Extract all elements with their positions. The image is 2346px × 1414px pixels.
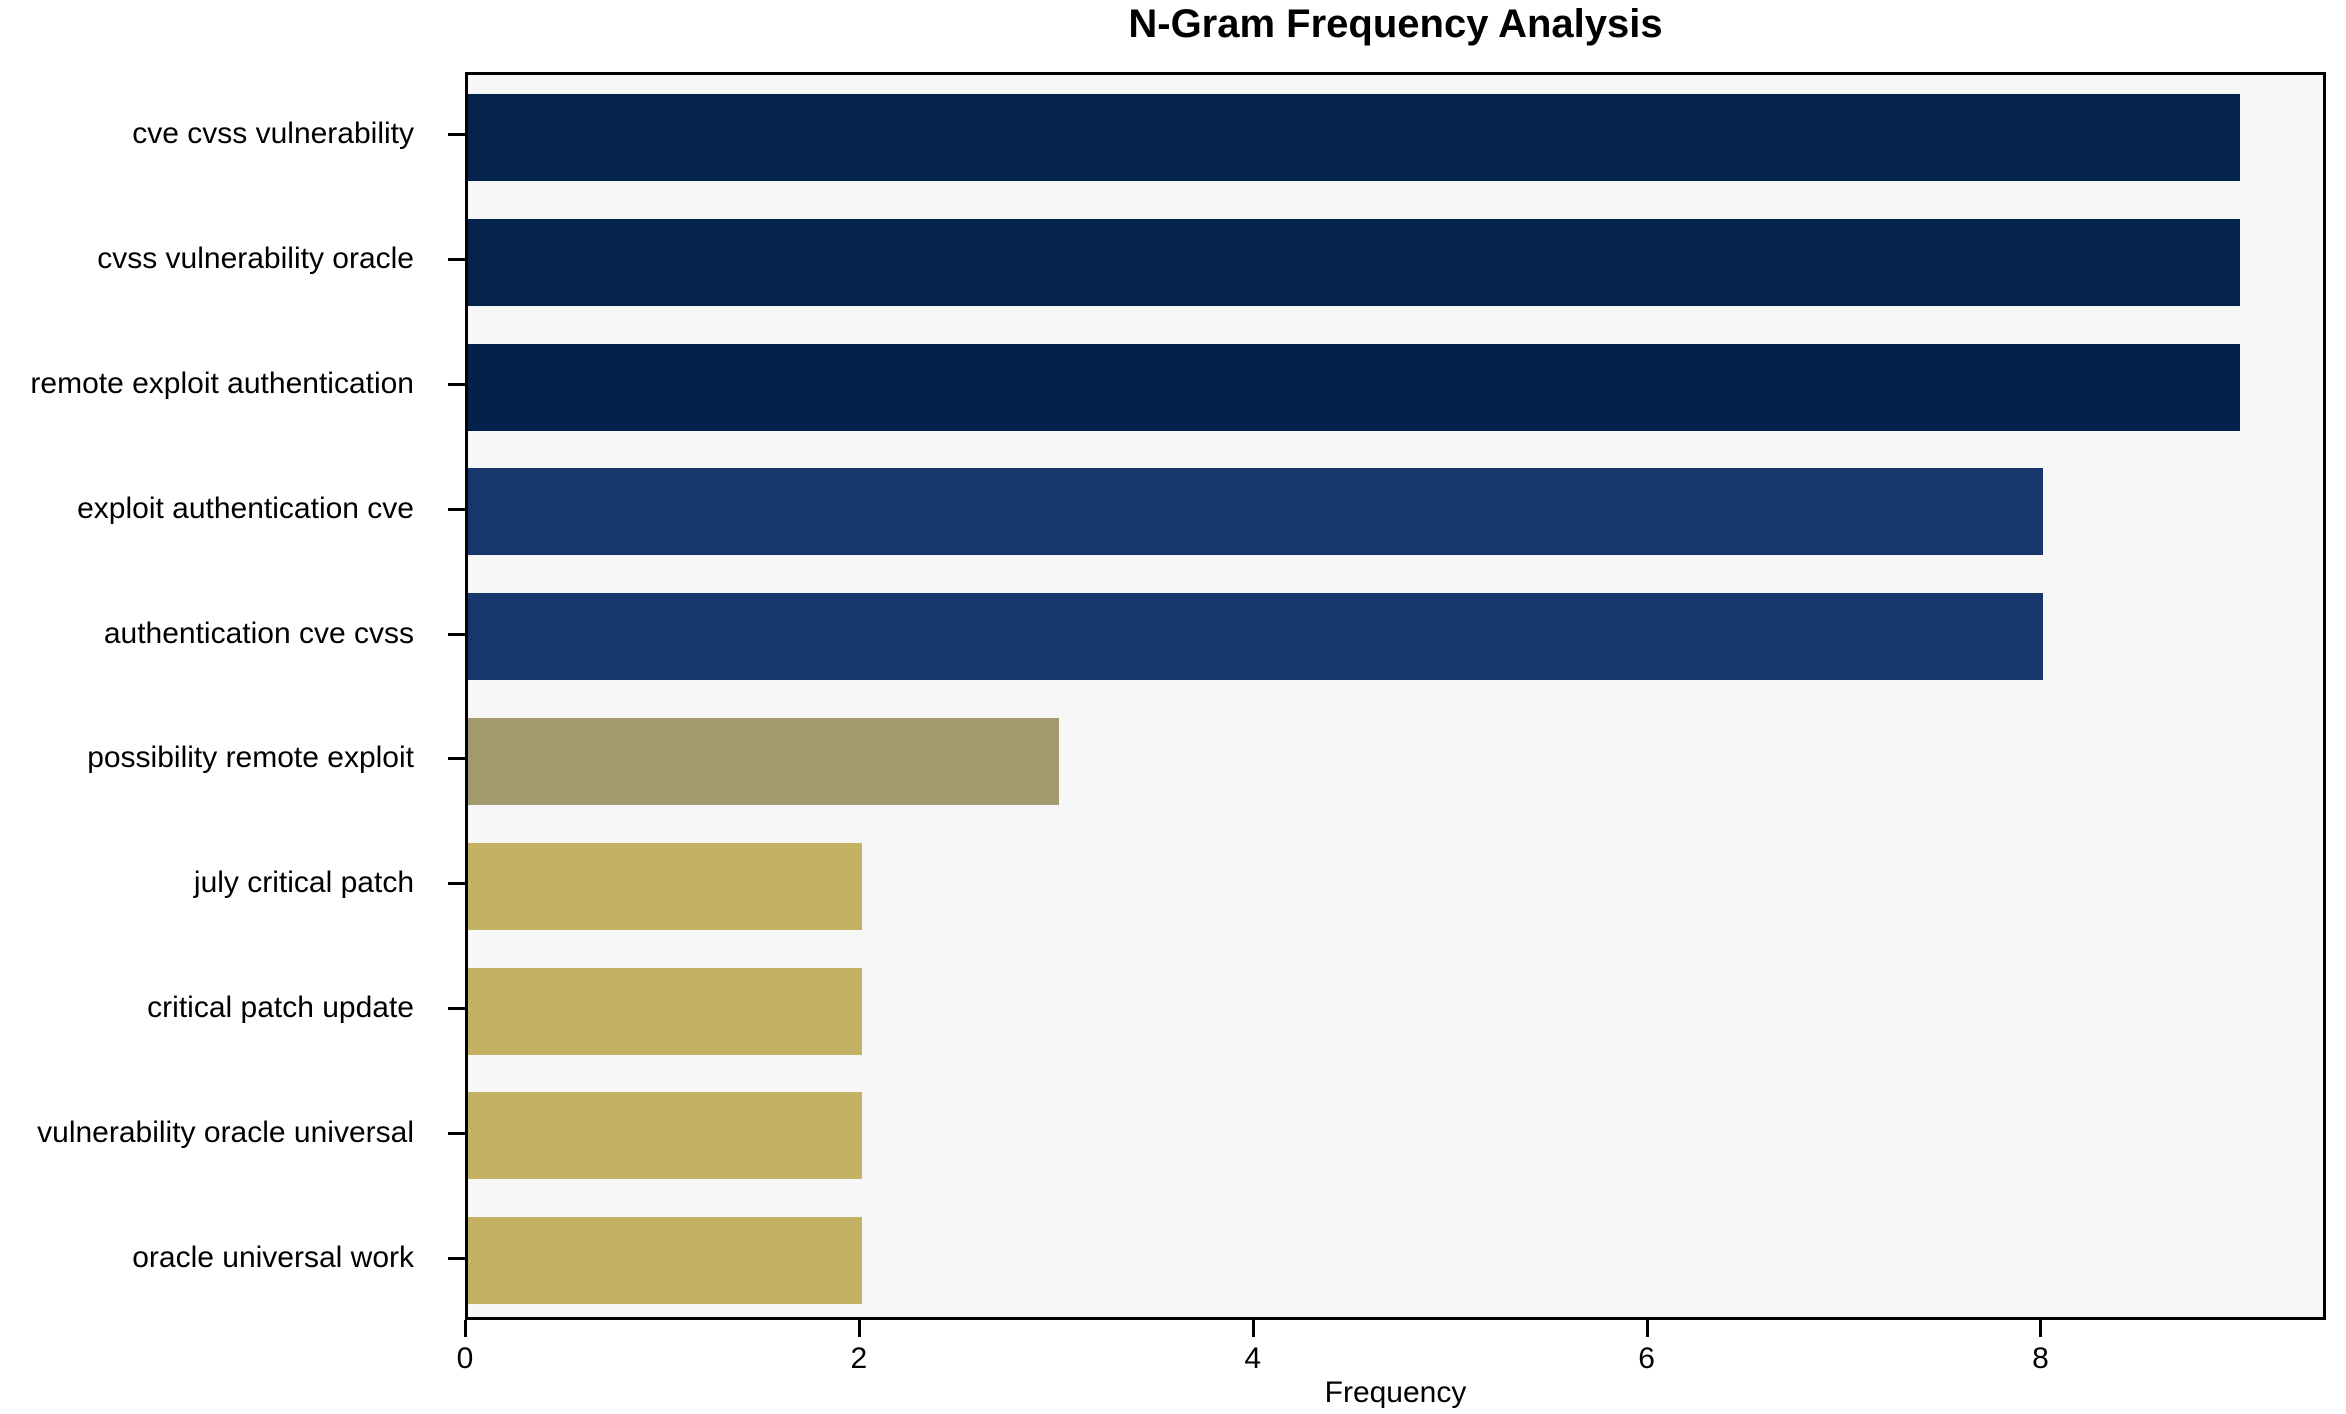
y-axis-labels: cve cvss vulnerabilitycvss vulnerability… (0, 72, 440, 1320)
x-tick-label: 6 (1638, 1342, 1655, 1376)
x-tick-label: 4 (1244, 1342, 1261, 1376)
x-tick-label: 0 (457, 1342, 474, 1376)
y-tick-label: july critical patch (194, 866, 414, 900)
y-tick-mark (448, 1132, 465, 1135)
y-tick-label: exploit authentication cve (77, 492, 414, 526)
y-tick-mark (448, 882, 465, 885)
y-tick-label: cve cvss vulnerability (132, 117, 414, 151)
bar (468, 593, 2043, 680)
y-tick-label: oracle universal work (132, 1241, 414, 1275)
bars-layer (468, 75, 2323, 1317)
y-tick-label: remote exploit authentication (30, 367, 414, 401)
y-tick-label: cvss vulnerability oracle (97, 242, 414, 276)
x-tick-mark (858, 1320, 861, 1337)
y-tick-label: authentication cve cvss (104, 617, 414, 651)
x-tick-mark (1252, 1320, 1255, 1337)
bar (468, 1217, 862, 1304)
bar (468, 219, 2240, 306)
bar (468, 843, 862, 930)
y-tick-label: critical patch update (147, 991, 414, 1025)
x-tick-mark (2039, 1320, 2042, 1337)
x-axis-title: Frequency (465, 1376, 2326, 1410)
y-tick-label: possibility remote exploit (87, 741, 414, 775)
y-tick-mark (448, 258, 465, 261)
plot-area (465, 72, 2326, 1320)
bar (468, 968, 862, 1055)
y-tick-mark (448, 133, 465, 136)
x-tick-label: 2 (851, 1342, 868, 1376)
y-tick-mark (448, 633, 465, 636)
x-tick-mark (464, 1320, 467, 1337)
y-tick-mark (448, 757, 465, 760)
chart-figure: N-Gram Frequency Analysis cve cvss vulne… (0, 0, 2346, 1414)
y-tick-mark (448, 1257, 465, 1260)
bar (468, 718, 1059, 805)
bar (468, 1092, 862, 1179)
bar (468, 468, 2043, 555)
bar (468, 344, 2240, 431)
y-tick-label: vulnerability oracle universal (37, 1116, 414, 1150)
x-tick-label: 8 (2032, 1342, 2049, 1376)
x-tick-mark (1646, 1320, 1649, 1337)
y-tick-mark (448, 1007, 465, 1010)
bar (468, 94, 2240, 181)
y-tick-mark (448, 508, 465, 511)
y-tick-mark (448, 383, 465, 386)
page-title: N-Gram Frequency Analysis (465, 2, 2326, 46)
